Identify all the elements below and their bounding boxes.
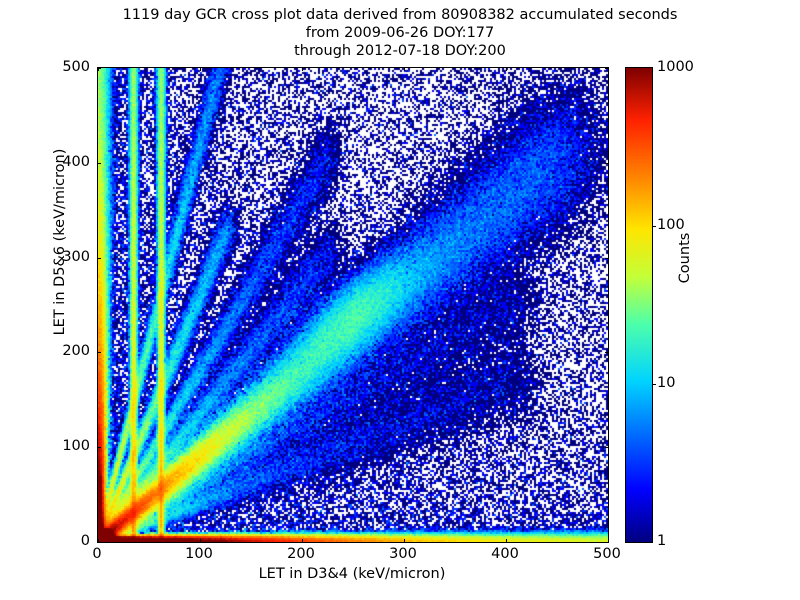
colorbar-label: Counts xyxy=(677,198,693,318)
x-tick-400 xyxy=(506,539,507,543)
y-tick-400 xyxy=(97,163,101,164)
colorbar xyxy=(625,67,653,543)
x-tick-100 xyxy=(200,539,201,543)
y-axis-label: LET in D5&6 (keV/micron) xyxy=(52,82,68,402)
colorbar-tick-10 xyxy=(652,384,656,385)
y-tick-300 xyxy=(97,258,101,259)
plot-title-line-2: from 2009-06-26 DOY:177 xyxy=(0,24,800,42)
y-tick-300 xyxy=(605,258,609,259)
y-tick-0 xyxy=(605,542,609,543)
y-tick-400 xyxy=(605,163,609,164)
colorbar-tick-label-1000: 1000 xyxy=(657,59,694,75)
colorbar-tick-100 xyxy=(652,226,656,227)
y-tick-200 xyxy=(605,352,609,353)
plot-title-line-3: through 2012-07-18 DOY:200 xyxy=(0,42,800,60)
y-tick-100 xyxy=(97,447,101,448)
x-tick-label-300: 300 xyxy=(389,546,417,562)
y-tick-label-0: 0 xyxy=(81,533,90,549)
x-tick-200 xyxy=(302,67,303,71)
x-tick-400 xyxy=(506,67,507,71)
y-tick-500 xyxy=(97,68,101,69)
x-tick-label-100: 100 xyxy=(185,546,213,562)
x-tick-label-500: 500 xyxy=(593,546,621,562)
y-tick-label-100: 100 xyxy=(62,438,90,454)
figure-canvas: 1119 day GCR cross plot data derived fro… xyxy=(0,0,800,600)
x-tick-label-0: 0 xyxy=(92,546,101,562)
y-tick-0 xyxy=(97,542,101,543)
x-tick-100 xyxy=(200,67,201,71)
colorbar-tick-label-1: 1 xyxy=(657,533,666,549)
plot-title-line-1: 1119 day GCR cross plot data derived fro… xyxy=(0,6,800,24)
x-axis-label: LET in D3&4 (keV/micron) xyxy=(97,566,607,582)
y-tick-500 xyxy=(605,68,609,69)
y-tick-100 xyxy=(605,447,609,448)
plot-area xyxy=(97,67,609,543)
y-tick-200 xyxy=(97,352,101,353)
x-tick-label-200: 200 xyxy=(287,546,315,562)
x-tick-200 xyxy=(302,539,303,543)
colorbar-tick-label-10: 10 xyxy=(657,375,675,391)
density-scatter-canvas xyxy=(98,68,608,542)
x-tick-300 xyxy=(404,67,405,71)
y-tick-label-500: 500 xyxy=(62,59,90,75)
x-tick-300 xyxy=(404,539,405,543)
colorbar-gradient xyxy=(626,68,652,542)
x-tick-label-400: 400 xyxy=(491,546,519,562)
plot-title: 1119 day GCR cross plot data derived fro… xyxy=(0,6,800,60)
